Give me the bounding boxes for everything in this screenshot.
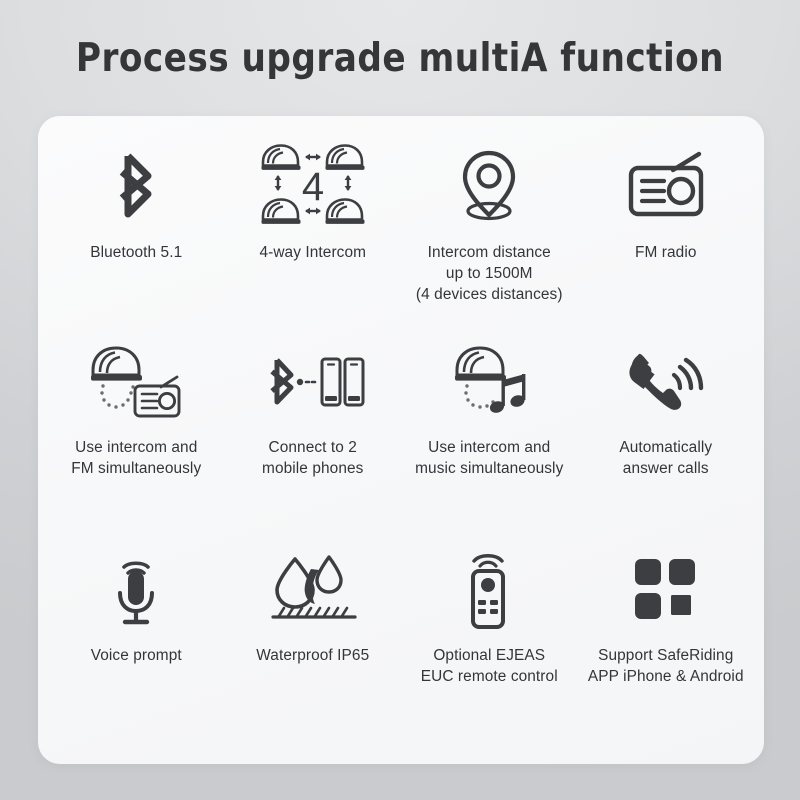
remote-control-icon	[458, 547, 520, 633]
microphone-icon	[103, 547, 169, 633]
helmet-music-icon	[441, 343, 537, 425]
feature-item-intercom-distance[interactable]: Intercom distance up to 1500M (4 devices…	[401, 140, 578, 343]
feature-card: Bluetooth 5.1	[38, 116, 764, 764]
feature-label: Waterproof IP65	[256, 645, 369, 666]
feature-item-remote-control[interactable]: Optional EJEAS EUC remote control	[401, 547, 578, 750]
feature-label: FM radio	[635, 242, 697, 263]
feature-label: Bluetooth 5.1	[90, 242, 182, 263]
feature-grid: Bluetooth 5.1	[38, 116, 764, 764]
four-way-intercom-icon: 4	[261, 140, 365, 230]
feature-label: Use intercom and FM simultaneously	[71, 437, 201, 479]
waterdrop-icon	[267, 547, 359, 633]
bluetooth-two-phones-icon	[261, 343, 365, 425]
ringing-phone-icon	[627, 343, 705, 425]
feature-label: Support SafeRiding APP iPhone & Android	[588, 645, 744, 687]
feature-label: Connect to 2 mobile phones	[262, 437, 363, 479]
feature-item-bluetooth[interactable]: Bluetooth 5.1	[48, 140, 225, 343]
poster-page: Process upgrade multiA function Bluetoot…	[0, 0, 800, 800]
feature-item-waterproof[interactable]: Waterproof IP65	[225, 547, 402, 750]
feature-label: Voice prompt	[91, 645, 182, 666]
page-title: Process upgrade multiA function	[48, 36, 752, 81]
feature-item-intercom-music[interactable]: Use intercom and music simultaneously	[401, 343, 578, 546]
intercom-count-badge: 4	[302, 165, 324, 209]
feature-item-intercom-4way[interactable]: 4 4-way Intercom	[225, 140, 402, 343]
feature-item-auto-answer[interactable]: Automatically answer calls	[578, 343, 755, 546]
feature-item-intercom-fm[interactable]: Use intercom and FM simultaneously	[48, 343, 225, 546]
location-pin-icon	[453, 140, 525, 230]
bluetooth-icon	[108, 140, 164, 230]
feature-label: Automatically answer calls	[619, 437, 712, 479]
helmet-radio-icon	[83, 343, 189, 425]
feature-item-voice-prompt[interactable]: Voice prompt	[48, 547, 225, 750]
feature-label: Intercom distance up to 1500M (4 devices…	[416, 242, 563, 305]
app-grid-icon	[633, 547, 699, 633]
feature-label: 4-way Intercom	[259, 242, 366, 263]
feature-item-app-support[interactable]: Support SafeRiding APP iPhone & Android	[578, 547, 755, 750]
feature-label: Optional EJEAS EUC remote control	[421, 645, 558, 687]
feature-label: Use intercom and music simultaneously	[415, 437, 563, 479]
radio-icon	[625, 140, 707, 230]
feature-item-fm-radio[interactable]: FM radio	[578, 140, 755, 343]
feature-item-two-phones[interactable]: Connect to 2 mobile phones	[225, 343, 402, 546]
